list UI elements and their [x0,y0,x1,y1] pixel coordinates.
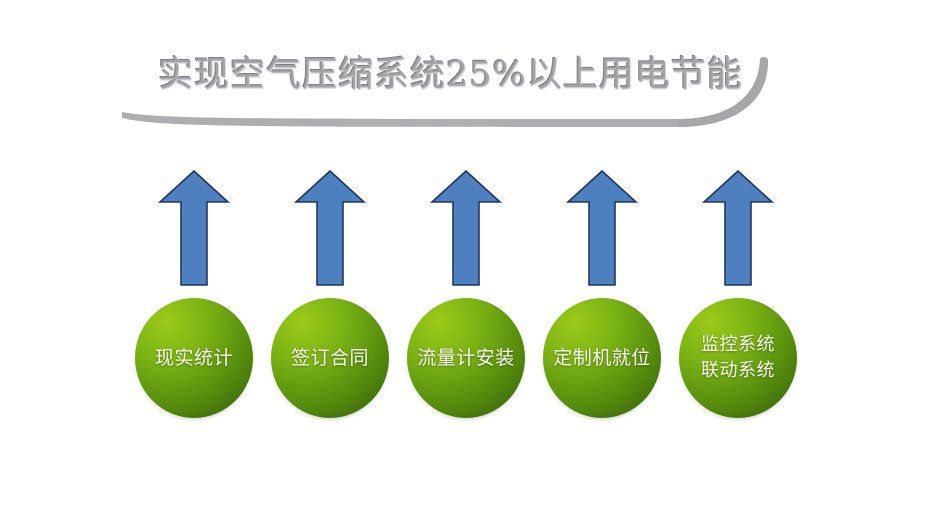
flow-step-5[interactable]: 监控系统 联动系统 [670,168,806,428]
arrow-up-icon [429,168,503,288]
step-label-3: 流量计安装 [417,346,515,371]
flow-step-3[interactable]: 流量计安装 [398,168,534,428]
flow-step-4[interactable]: 定制机就位 [534,168,670,428]
step-label-5: 监控系统 联动系统 [701,332,775,384]
step-sphere-5[interactable]: 监控系统 联动系统 [679,298,797,418]
arrow-up-icon [157,168,231,288]
step-label-2: 签订合同 [291,346,369,371]
step-sphere-1[interactable]: 现实统计 [135,298,253,418]
flow-step-1[interactable]: 现实统计 [126,168,262,428]
step-sphere-4[interactable]: 定制机就位 [543,298,661,418]
step-sphere-3[interactable]: 流量计安装 [407,298,525,418]
flow-step-2[interactable]: 签订合同 [262,168,398,428]
arrow-up-icon [293,168,367,288]
process-flow-row: 现实统计 签订合同 流量计安装 定 [0,0,945,529]
step-sphere-2[interactable]: 签订合同 [271,298,389,418]
arrow-up-icon [565,168,639,288]
step-label-4: 定制机就位 [553,346,651,371]
presentation-slide: 实现空气压缩系统25%以上用电节能 现实统计 签订合同 [0,0,945,529]
step-label-1: 现实统计 [155,346,233,371]
arrow-up-icon [701,168,775,288]
